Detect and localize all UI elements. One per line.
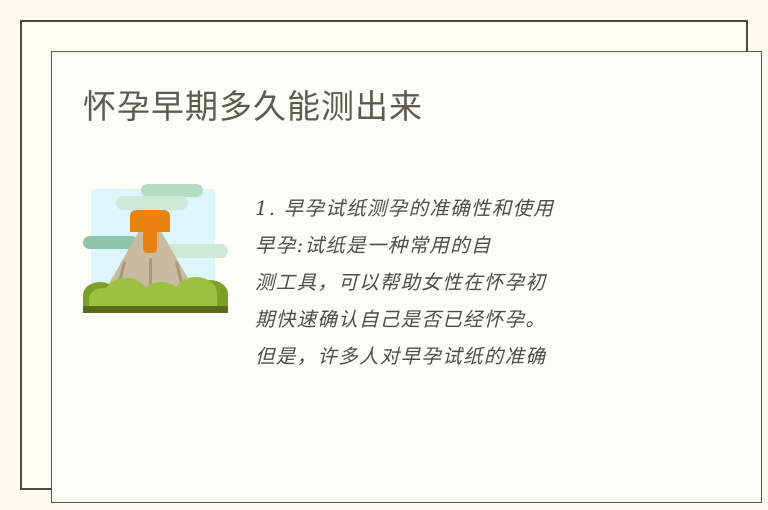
ground-strip bbox=[83, 306, 228, 313]
bush-shape bbox=[175, 277, 217, 309]
inner-frame-border: 怀孕早期多久能测出来 bbox=[51, 51, 762, 503]
page-title: 怀孕早期多久能测出来 bbox=[83, 85, 423, 129]
article-content-row: 1. 早孕试纸测孕的准确性和使用 早孕:试纸是一种常用的自 测工具，可以帮助女性… bbox=[83, 178, 737, 375]
volcano-illustration bbox=[83, 178, 228, 316]
article-card: 怀孕早期多久能测出来 bbox=[52, 52, 761, 502]
page-root: 怀孕早期多久能测出来 bbox=[0, 0, 768, 510]
cloud-icon bbox=[116, 196, 188, 210]
outer-frame-border: 怀孕早期多久能测出来 bbox=[20, 20, 748, 490]
body-line: 但是，许多人对早孕试纸的准确 bbox=[255, 338, 737, 375]
body-line: 1. 早孕试纸测孕的准确性和使用 bbox=[255, 190, 737, 227]
article-body: 1. 早孕试纸测孕的准确性和使用 早孕:试纸是一种常用的自 测工具，可以帮助女性… bbox=[255, 178, 737, 375]
body-line: 测工具，可以帮助女性在怀孕初 bbox=[255, 264, 737, 301]
lava-flow bbox=[143, 226, 157, 253]
body-line: 早孕:试纸是一种常用的自 bbox=[255, 227, 737, 264]
body-line: 期快速确认自己是否已经怀孕。 bbox=[255, 301, 737, 338]
